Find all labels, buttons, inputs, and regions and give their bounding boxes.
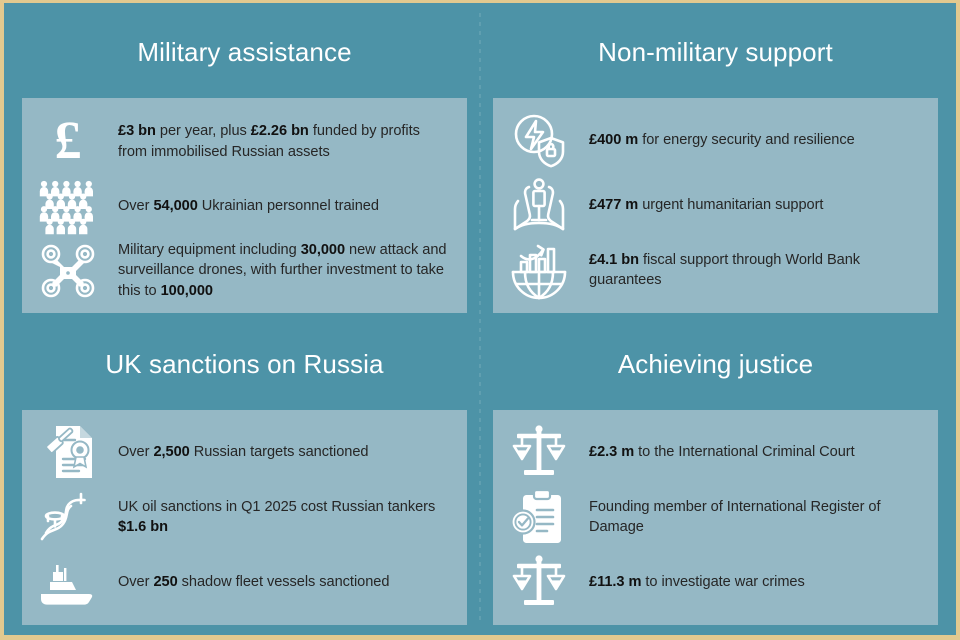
- fact-item: £400 m for energy security and resilienc…: [503, 108, 922, 172]
- center-divider: [480, 13, 481, 625]
- fact-text: £3 bn per year, plus £2.26 bn funded by …: [118, 121, 451, 162]
- fact-item: Over 2,500 Russian targets sanctioned: [32, 420, 451, 484]
- fact-plain: Over: [118, 198, 153, 214]
- quadrant-title: Military assistance: [22, 31, 467, 77]
- fact-plain: Over: [118, 444, 153, 460]
- fact-item: Founding member of International Registe…: [503, 485, 922, 549]
- fact-highlight: £4.1 bn: [589, 252, 639, 268]
- fact-item: £11.3 m to investigate war crimes: [503, 550, 922, 614]
- fact-text: £11.3 m to investigate war crimes: [589, 572, 922, 593]
- fact-text: £400 m for energy security and resilienc…: [589, 130, 922, 151]
- fact-highlight: $1.6 bn: [118, 519, 168, 535]
- clipboard-check-icon: [503, 485, 575, 549]
- quadrant-military-assistance: Military assistance ££3 bn per year, plu…: [22, 9, 467, 313]
- gavel-document-icon: [32, 420, 104, 484]
- energy-security-icon: [503, 108, 575, 172]
- facts-panel: ££3 bn per year, plus £2.26 bn funded by…: [22, 98, 467, 313]
- fact-item: £2.3 m to the International Criminal Cou…: [503, 420, 922, 484]
- humanitarian-hands-icon: [503, 173, 575, 237]
- facts-panel: £2.3 m to the International Criminal Cou…: [493, 410, 938, 625]
- infographic-board: Military assistance ££3 bn per year, plu…: [0, 0, 960, 640]
- fact-highlight: 100,000: [161, 283, 213, 299]
- fact-plain: to the International Criminal Court: [634, 444, 854, 460]
- fact-text: Over 54,000 Ukrainian personnel trained: [118, 196, 451, 217]
- fact-highlight: 54,000: [153, 198, 197, 214]
- fact-highlight: 30,000: [301, 242, 345, 258]
- fact-item: Over 54,000 Ukrainian personnel trained: [32, 174, 451, 238]
- fact-plain: to investigate war crimes: [641, 574, 804, 590]
- fact-highlight: £477 m: [589, 197, 638, 213]
- fact-item: ££3 bn per year, plus £2.26 bn funded by…: [32, 110, 451, 174]
- quadrant-title: UK sanctions on Russia: [22, 343, 467, 389]
- svg-text:£: £: [55, 110, 82, 170]
- facts-panel: £400 m for energy security and resilienc…: [493, 98, 938, 313]
- fact-item: £477 m urgent humanitarian support: [503, 173, 922, 237]
- fact-text: UK oil sanctions in Q1 2025 cost Russian…: [118, 497, 451, 538]
- scales-of-justice-icon: [503, 420, 575, 484]
- cargo-ship-icon: [32, 550, 104, 614]
- fact-plain: per year, plus: [156, 123, 251, 139]
- fact-item: Military equipment including 30,000 new …: [32, 239, 451, 303]
- fact-text: £2.3 m to the International Criminal Cou…: [589, 442, 922, 463]
- fact-plain: Over: [118, 574, 153, 590]
- fact-highlight: £11.3 m: [589, 574, 641, 590]
- fact-highlight: £3 bn: [118, 123, 156, 139]
- fact-plain: Founding member of International Registe…: [589, 499, 880, 536]
- fact-highlight: £2.3 m: [589, 444, 634, 460]
- quadrant-title: Achieving justice: [493, 343, 938, 389]
- fact-text: £4.1 bn fiscal support through World Ban…: [589, 250, 922, 291]
- fact-highlight: £2.26 bn: [251, 123, 309, 139]
- fact-highlight: £400 m: [589, 132, 638, 148]
- fact-plain: Russian targets sanctioned: [190, 444, 369, 460]
- fact-plain: UK oil sanctions in Q1 2025 cost Russian…: [118, 499, 435, 515]
- people-group-icon: [32, 174, 104, 238]
- quadrant-title: Non-military support: [493, 31, 938, 77]
- quadrant-achieving-justice: Achieving justice £2.3 m to the Internat…: [493, 321, 938, 625]
- oil-pipeline-icon: [32, 485, 104, 549]
- fact-text: Over 250 shadow fleet vessels sanctioned: [118, 572, 451, 593]
- fact-plain: for energy security and resilience: [638, 132, 854, 148]
- fact-text: Over 2,500 Russian targets sanctioned: [118, 442, 451, 463]
- fact-plain: shadow fleet vessels sanctioned: [178, 574, 390, 590]
- quadrant-grid: Military assistance ££3 bn per year, plu…: [4, 3, 956, 635]
- fact-text: Military equipment including 30,000 new …: [118, 240, 451, 302]
- quadrant-non-military-support: Non-military support £400 m for energy s…: [493, 9, 938, 313]
- fact-text: £477 m urgent humanitarian support: [589, 195, 922, 216]
- globe-growth-icon: [503, 238, 575, 302]
- facts-panel: Over 2,500 Russian targets sanctioned UK…: [22, 410, 467, 625]
- fact-highlight: 2,500: [153, 444, 189, 460]
- fact-plain: Ukrainian personnel trained: [198, 198, 379, 214]
- fact-item: Over 250 shadow fleet vessels sanctioned: [32, 550, 451, 614]
- fact-highlight: 250: [153, 574, 177, 590]
- drone-icon: [32, 239, 104, 303]
- fact-plain: Military equipment including: [118, 242, 301, 258]
- pound-sterling-icon: £: [32, 110, 104, 174]
- fact-plain: urgent humanitarian support: [638, 197, 823, 213]
- quadrant-uk-sanctions-on-russia: UK sanctions on Russia Over 2,500 Russia…: [22, 321, 467, 625]
- fact-text: Founding member of International Registe…: [589, 497, 922, 538]
- scales-of-justice-icon: [503, 550, 575, 614]
- fact-item: £4.1 bn fiscal support through World Ban…: [503, 238, 922, 302]
- fact-item: UK oil sanctions in Q1 2025 cost Russian…: [32, 485, 451, 549]
